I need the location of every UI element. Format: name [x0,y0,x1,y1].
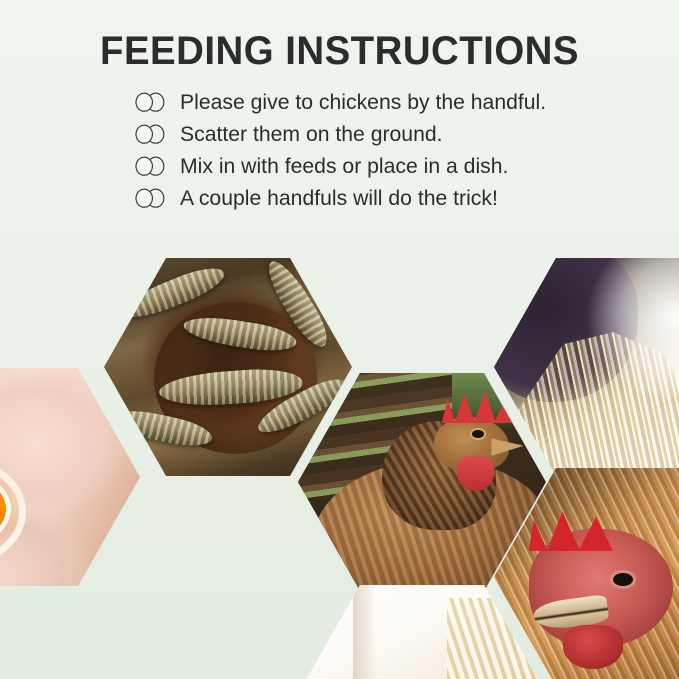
instruction-list: Please give to chickens by the handful. … [0,88,679,214]
two-eggs-icon [131,122,171,148]
hex-photo-larvae-scoop [104,258,352,476]
cracked-egg-image [0,368,140,586]
coop-post [353,585,375,679]
two-eggs-icon [131,154,171,180]
page-title: FEEDING INSTRUCTIONS [14,0,666,74]
instructions-text-block: FEEDING INSTRUCTIONS Please give to chic… [0,0,679,216]
chicken-wattle [563,625,623,669]
list-item: A couple handfuls will do the trick! [131,184,679,214]
list-item: Mix in with feeds or place in a dish. [131,152,679,182]
feeding-instructions-graphic: FEEDING INSTRUCTIONS Please give to chic… [0,0,679,679]
list-item-label: A couple handfuls will do the trick! [180,188,498,210]
hex-photo-cracked-egg [0,368,140,586]
list-item-label: Scatter them on the ground. [180,124,443,146]
list-item-label: Mix in with feeds or place in a dish. [180,156,508,178]
list-item: Scatter them on the ground. [131,120,679,150]
hen-wattle [457,456,494,491]
two-eggs-icon [131,90,171,116]
green-foliage [643,393,679,471]
list-item: Please give to chickens by the handful. [131,88,679,118]
chicken-eye [613,573,633,586]
two-eggs-icon [131,186,171,212]
list-item-label: Please give to chickens by the handful. [180,92,546,114]
larvae-scoop-image [104,258,352,476]
hen-comb [442,388,516,423]
